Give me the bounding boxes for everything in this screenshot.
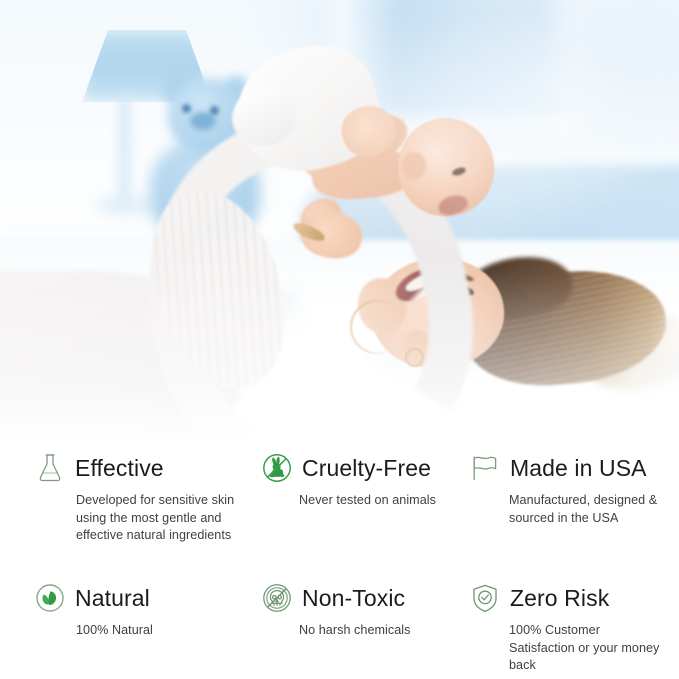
photo-lamp-base	[96, 196, 156, 216]
zero-risk-shield-icon	[469, 581, 501, 615]
feature-description: Developed for sensitive skin using the m…	[76, 492, 243, 545]
lifestyle-photo-mother-and-baby	[0, 0, 679, 440]
flask-icon	[34, 451, 66, 485]
product-feature-banner: Effective Developed for sensitive skin u…	[0, 0, 679, 679]
feature-description: No harsh chemicals	[299, 622, 451, 640]
feature-item-zero-risk: Zero Risk 100% Customer Satisfaction or …	[451, 578, 663, 679]
feature-item-cruelty-free: Cruelty-Free Never tested on animals	[243, 448, 451, 578]
photo-baby-ear	[402, 152, 426, 180]
feature-header: Zero Risk	[469, 578, 663, 618]
photo-teddy-bear-eye-left	[182, 104, 191, 113]
feature-description: Never tested on animals	[299, 492, 451, 510]
feature-item-made-in-usa: Made in USA Manufactured, designed & sou…	[451, 448, 663, 578]
feature-description: Manufactured, designed & sourced in the …	[509, 492, 663, 527]
non-toxic-skull-icon	[261, 581, 293, 615]
feature-item-non-toxic: Non-Toxic No harsh chemicals	[243, 578, 451, 679]
feature-description: 100% Customer Satisfaction or your money…	[509, 622, 663, 675]
natural-leaf-icon	[34, 581, 66, 615]
feature-title: Effective	[75, 457, 164, 480]
feature-title: Zero Risk	[510, 587, 609, 610]
feature-title: Non-Toxic	[302, 587, 405, 610]
photo-lamp-stem	[117, 96, 133, 206]
feature-header: Effective	[34, 448, 243, 488]
feature-title: Natural	[75, 587, 150, 610]
feature-item-natural: Natural 100% Natural	[16, 578, 243, 679]
feature-header: Non-Toxic	[261, 578, 451, 618]
feature-grid: Effective Developed for sensitive skin u…	[0, 440, 679, 679]
feature-header: Made in USA	[469, 448, 663, 488]
feature-title: Made in USA	[510, 457, 647, 480]
feature-description: 100% Natural	[76, 622, 243, 640]
feature-header: Cruelty-Free	[261, 448, 451, 488]
cruelty-free-rabbit-icon	[261, 451, 293, 485]
feature-title: Cruelty-Free	[302, 457, 431, 480]
feature-header: Natural	[34, 578, 243, 618]
photo-teddy-bear-eye-right	[210, 106, 219, 115]
usa-flag-icon	[469, 451, 501, 485]
feature-item-effective: Effective Developed for sensitive skin u…	[16, 448, 243, 578]
